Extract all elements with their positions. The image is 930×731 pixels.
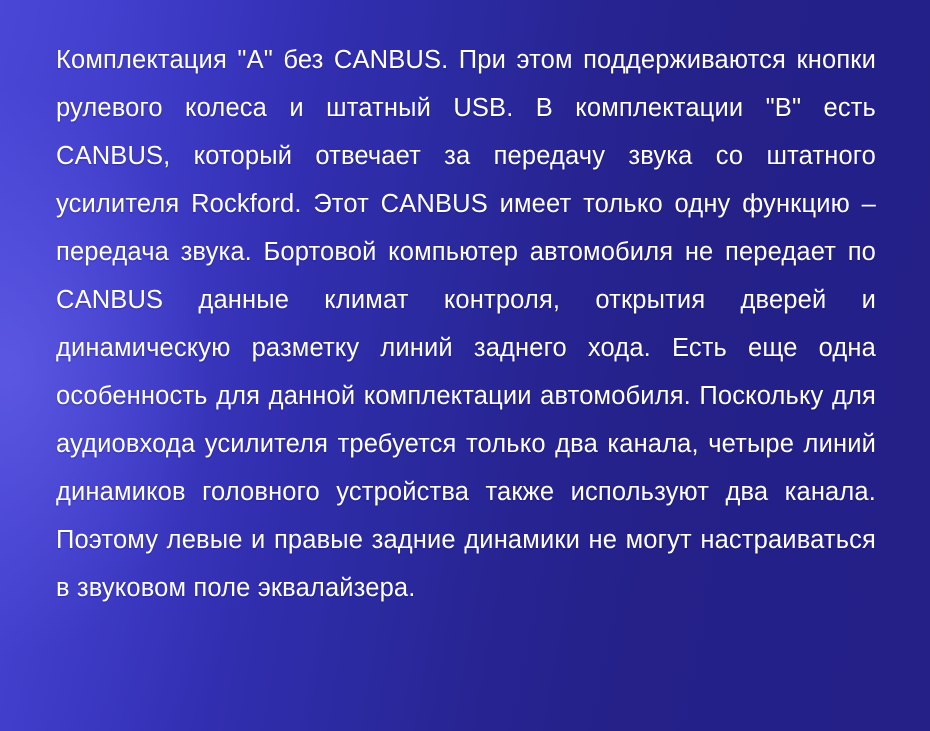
body-paragraph: Комплектация "A" без CANBUS. При этом по… [56, 36, 876, 612]
info-slide: Комплектация "A" без CANBUS. При этом по… [0, 0, 930, 731]
